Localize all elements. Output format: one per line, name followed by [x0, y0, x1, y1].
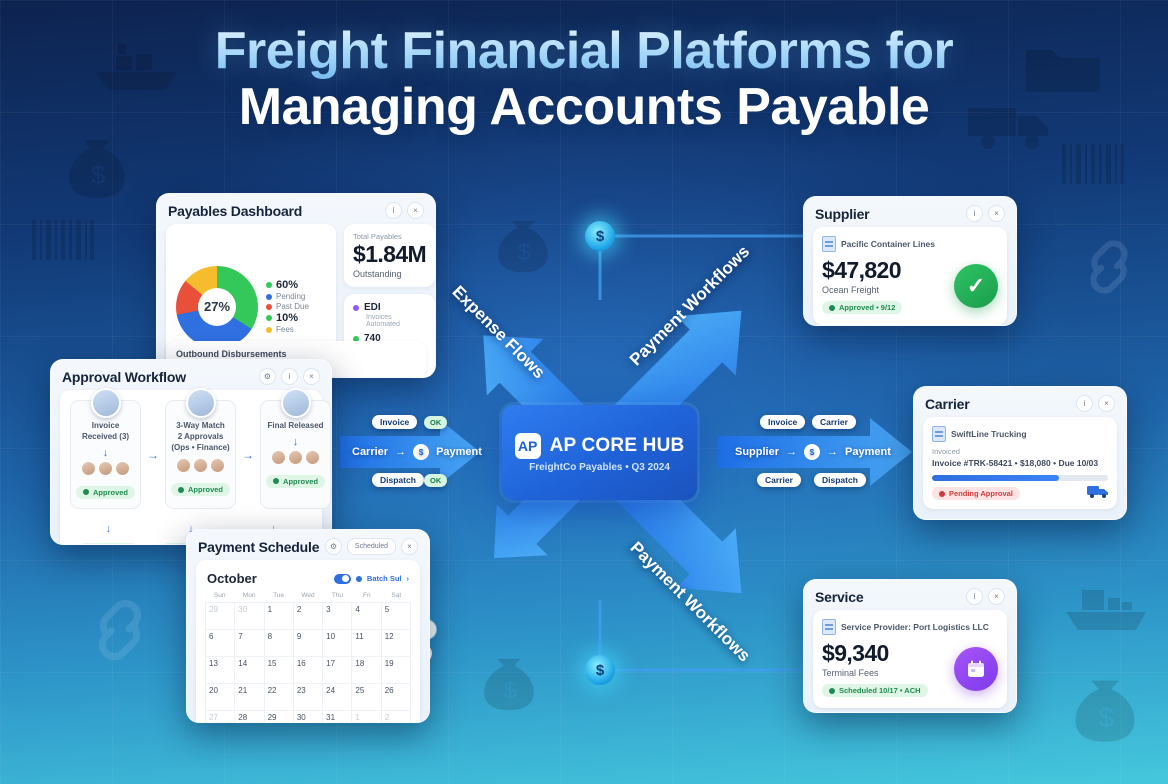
arrow-right-icon-2: → [827, 446, 838, 458]
gear-icon[interactable]: ⚙ [325, 538, 342, 555]
legend-item: Pending [266, 292, 309, 301]
calendar-header: October Batch Sul › [205, 569, 411, 592]
approval-panel: Invoice Received (3) ↓ Approved → 3-Way … [60, 390, 322, 545]
flow-right-line: Supplier → $ → Payment [735, 444, 891, 460]
day-cell[interactable]: 9 [294, 630, 323, 657]
day-cell[interactable]: 1 [265, 603, 294, 630]
day-cell[interactable]: 24 [323, 684, 352, 711]
legend-item: 60% [266, 279, 309, 291]
dashboard-titlebar: Payables Dashboard i × [157, 194, 435, 224]
batch-label: Batch Sul [367, 574, 402, 583]
chip-right-top-label: Invoice [768, 417, 797, 427]
supplier-status-badge: Approved • 9/12 [822, 301, 902, 314]
service-window[interactable]: Service i × Service Provider: Port Logis… [803, 579, 1017, 713]
info-icon[interactable]: i [385, 202, 402, 219]
dow-sat: Sat [382, 592, 411, 599]
donut-legend: 60% Pending Past Due 10% Fees [266, 279, 309, 334]
day-cell[interactable]: 28 [235, 711, 264, 723]
approval-workflow-window[interactable]: Approval Workflow ⚙ i × Invoice Received… [50, 359, 332, 545]
service-amount: $9,340 [822, 640, 928, 667]
flow-left-line: Carrier → $ Payment [352, 444, 482, 460]
supplier-window[interactable]: Supplier i × Pacific Container Lines $47… [803, 196, 1017, 326]
supplier-panel: Pacific Container Lines $47,820 Ocean Fr… [813, 227, 1007, 325]
chip-left-top-label: Invoice [380, 417, 409, 427]
document-icon [932, 426, 946, 442]
flow-left-from: Carrier [352, 446, 388, 458]
calendar-icon [954, 647, 998, 691]
carrier-status-badge: Pending Approval [932, 487, 1020, 500]
day-cell[interactable]: 6 [206, 630, 235, 657]
approver-faces [266, 450, 325, 465]
avatar [186, 388, 216, 418]
dashboard-title: Payables Dashboard [168, 203, 302, 219]
chip-right-bottom-label: Carrier [765, 475, 793, 485]
stat-key: EDI [364, 302, 381, 313]
day-cell[interactable]: 31 [323, 711, 352, 723]
dow-mon: Mon [234, 592, 263, 599]
total-sub: Outstanding [353, 269, 426, 279]
arrow-right-icon: → [395, 446, 406, 458]
calendar-days: 29 30 1 2 3 4 5 6 7 8 9 10 11 12 13 14 1… [205, 602, 411, 723]
title-line-1: Freight Financial Platforms for [0, 24, 1168, 79]
chip-right-top[interactable]: Invoice [760, 415, 805, 429]
legend-value: 10% [276, 312, 298, 324]
carrier-invoice-line: Invoice #TRK-58421 • $18,080 • Due 10/03 [932, 458, 1108, 468]
step-3-status: Approved [266, 475, 325, 488]
carrier-name: SwiftLine Trucking [951, 429, 1027, 439]
supplier-amount: $47,820 [822, 257, 902, 284]
schedule-titlebar: Payment Schedule ⚙ Scheduled × [187, 530, 429, 560]
chip-left-top[interactable]: Invoice [372, 415, 417, 429]
legend-value: 60% [276, 279, 298, 291]
avatar [281, 388, 311, 418]
chevron-right-icon[interactable]: › [407, 574, 410, 583]
info-icon[interactable]: i [966, 588, 983, 605]
donut-ring: 27% [176, 266, 258, 348]
day-cell[interactable]: 22 [265, 684, 294, 711]
avatar [91, 388, 121, 418]
day-cell[interactable]: 1 [352, 711, 381, 723]
flow-left-badge: $ [413, 444, 429, 460]
day-cell[interactable]: 18 [352, 657, 381, 684]
step-connector-icon: → [147, 400, 159, 509]
service-category: Terminal Fees [822, 668, 928, 678]
stat-sub: Invoices Automated [366, 314, 426, 328]
day-cell[interactable]: 3 [323, 603, 352, 630]
chip-left-bottom-tag[interactable]: OK [424, 474, 447, 487]
hub-name: AP CORE HUB [550, 435, 685, 457]
step-2-label: 3-Way Match 2 Approvals (Ops • Finance) [171, 421, 230, 453]
approver-faces [76, 461, 135, 476]
approval-step-1[interactable]: Invoice Received (3) ↓ Approved [70, 400, 141, 509]
day-cell[interactable]: 27 [206, 711, 235, 723]
service-status-badge: Scheduled 10/17 • ACH [822, 684, 928, 697]
ap-core-hub-card[interactable]: AP AP CORE HUB FreightCo Payables • Q3 2… [502, 405, 697, 500]
truck-icon [1086, 483, 1108, 498]
day-cell[interactable]: 29 [265, 711, 294, 723]
chip-right-top-tag-label: Carrier [820, 417, 848, 427]
carrier-window[interactable]: Carrier i × SwiftLine Trucking Invoiced … [913, 386, 1127, 520]
title-line-2: Managing Accounts Payable [0, 79, 1168, 136]
approval-step-3[interactable]: Final Released ↓ Approved [260, 400, 331, 509]
chip-right-top-tag[interactable]: Carrier [812, 415, 856, 429]
day-cell[interactable]: 25 [352, 684, 381, 711]
total-amount: $1.84M [353, 241, 426, 268]
chip-left-bottom-label: Dispatch [380, 475, 416, 485]
day-cell[interactable]: 13 [206, 657, 235, 684]
document-icon [822, 236, 836, 252]
supplier-category: Ocean Freight [822, 285, 902, 295]
payables-dashboard-window[interactable]: Payables Dashboard i × 27% 60% Pending P… [156, 193, 436, 378]
day-cell[interactable]: 2 [382, 711, 411, 723]
chip-right-bottom-tag-label: Dispatch [822, 475, 858, 485]
day-cell[interactable]: 21 [235, 684, 264, 711]
arrow-down-icon: ↓ [76, 447, 135, 459]
day-cell[interactable]: 20 [206, 684, 235, 711]
flow-right-badge: $ [804, 444, 820, 460]
day-cell[interactable]: 30 [294, 711, 323, 723]
dow-fri: Fri [352, 592, 381, 599]
day-cell[interactable]: 30 [235, 603, 264, 630]
chip-left-bottom-tag-label: OK [430, 476, 441, 485]
check-icon: ✓ [954, 264, 998, 308]
day-cell[interactable]: 17 [323, 657, 352, 684]
carrier-caption: Invoiced [932, 447, 1108, 456]
hub-subtitle: FreightCo Payables • Q3 2024 [529, 462, 670, 473]
arrow-down-icon: ↓ [266, 436, 325, 448]
chip-left-bottom[interactable]: Dispatch [372, 473, 424, 487]
supplier-name: Pacific Container Lines [841, 239, 935, 249]
dow-thu: Thu [323, 592, 352, 599]
service-name: Service Provider: Port Logistics LLC [841, 622, 989, 632]
donut-center-label: 27% [176, 266, 258, 348]
legend-item: Fees [266, 325, 309, 334]
arrow-right-icon: → [786, 446, 797, 458]
legend-item: Past Due [266, 302, 309, 311]
day-cell[interactable]: 14 [235, 657, 264, 684]
approval-titlebar: Approval Workflow ⚙ i × [51, 360, 331, 390]
day-cell[interactable]: 26 [382, 684, 411, 711]
legend-label: Pending [276, 292, 305, 301]
legend-label: Past Due [276, 302, 309, 311]
legend-label: Fees [276, 325, 294, 334]
day-cell[interactable]: 19 [382, 657, 411, 684]
payment-schedule-window[interactable]: Payment Schedule ⚙ Scheduled × October B… [186, 529, 430, 723]
day-cell[interactable]: 23 [294, 684, 323, 711]
calendar-panel: October Batch Sul › Sun Mon Tue Wed Thu … [196, 560, 420, 723]
service-titlebar: Service i × [804, 580, 1016, 610]
dow-wed: Wed [293, 592, 322, 599]
chip-left-top-tag-label: OK [430, 418, 441, 427]
info-icon[interactable]: i [966, 205, 983, 222]
total-payables-box: Total Payables $1.84M Outstanding [344, 224, 435, 287]
supplier-title: Supplier [815, 206, 869, 222]
day-cell[interactable]: 4 [352, 603, 381, 630]
step-3-label: Final Released [266, 421, 325, 432]
step-connector-icon: → [242, 400, 254, 509]
chip-left-top-tag[interactable]: OK [424, 416, 447, 429]
stat-row: EDI [353, 302, 426, 313]
supplier-name-row: Pacific Container Lines [822, 236, 998, 252]
supplier-titlebar: Supplier i × [804, 197, 1016, 227]
day-cell[interactable]: 5 [382, 603, 411, 630]
day-cell-selected[interactable]: 16 [294, 657, 323, 684]
total-caption: Total Payables [353, 232, 426, 241]
step-1-label: Invoice Received (3) [76, 421, 135, 443]
carrier-title: Carrier [925, 396, 970, 412]
day-cell[interactable]: 15 [265, 657, 294, 684]
close-icon[interactable]: × [1098, 395, 1115, 412]
money-node-top[interactable]: $ [585, 221, 615, 251]
step-1-status: Approved [76, 486, 135, 499]
approval-title: Approval Workflow [62, 369, 186, 385]
gear-icon[interactable]: ⚙ [259, 368, 276, 385]
chip-right-bottom[interactable]: Carrier [757, 473, 801, 487]
money-node-bottom[interactable]: $ [585, 655, 615, 685]
chip-right-bottom-tag[interactable]: Dispatch [814, 473, 866, 487]
dow-tue: Tue [264, 592, 293, 599]
day-cell[interactable]: 2 [294, 603, 323, 630]
day-cell[interactable]: 10 [323, 630, 352, 657]
carrier-name-row: SwiftLine Trucking [932, 426, 1108, 442]
day-cell[interactable]: 8 [265, 630, 294, 657]
calendar-month: October [207, 571, 257, 586]
flow-right-from: Supplier [735, 446, 779, 458]
dow-sun: Sun [205, 592, 234, 599]
carrier-titlebar: Carrier i × [914, 387, 1126, 417]
close-icon[interactable]: × [988, 205, 1005, 222]
day-cell[interactable]: 29 [206, 603, 235, 630]
footer-title: Outbound Disbursements [176, 349, 416, 359]
document-icon [822, 619, 836, 635]
batch-toggle[interactable] [334, 574, 351, 584]
approval-steps: Invoice Received (3) ↓ Approved → 3-Way … [60, 390, 322, 519]
infographic-canvas: $ $ $ $ Freight Financial Platforms for … [0, 0, 1168, 784]
step-2-status: Approved [171, 483, 230, 496]
info-icon[interactable]: i [281, 368, 298, 385]
service-title: Service [815, 589, 863, 605]
legend-item: 10% [266, 312, 309, 324]
day-cell[interactable]: 11 [352, 630, 381, 657]
output-1: ↓Approved [70, 519, 147, 545]
ap-logo-icon: AP [515, 433, 541, 459]
close-icon[interactable]: × [988, 588, 1005, 605]
approver-faces [171, 458, 230, 473]
day-cell[interactable]: 12 [382, 630, 411, 657]
day-cell[interactable]: 7 [235, 630, 264, 657]
arrow-down-icon: ↓ [70, 523, 147, 535]
close-icon[interactable]: × [401, 538, 418, 555]
carrier-panel: SwiftLine Trucking Invoiced Invoice #TRK… [923, 417, 1117, 509]
approval-step-2[interactable]: 3-Way Match 2 Approvals (Ops • Finance) … [165, 400, 236, 509]
calendar-tools[interactable]: Batch Sul › [334, 574, 409, 584]
page-title: Freight Financial Platforms for Managing… [0, 24, 1168, 136]
close-icon[interactable]: × [303, 368, 320, 385]
calendar-dow: Sun Mon Tue Wed Thu Fri Sat [205, 592, 411, 602]
info-icon[interactable]: i [1076, 395, 1093, 412]
close-icon[interactable]: × [407, 202, 424, 219]
schedule-title: Payment Schedule [198, 539, 319, 555]
flow-right-to: Payment [845, 446, 891, 458]
scheduled-button[interactable]: Scheduled [347, 538, 396, 555]
flow-left-to: Payment [436, 446, 482, 458]
service-panel: Service Provider: Port Logistics LLC $9,… [813, 610, 1007, 708]
service-name-row: Service Provider: Port Logistics LLC [822, 619, 998, 635]
